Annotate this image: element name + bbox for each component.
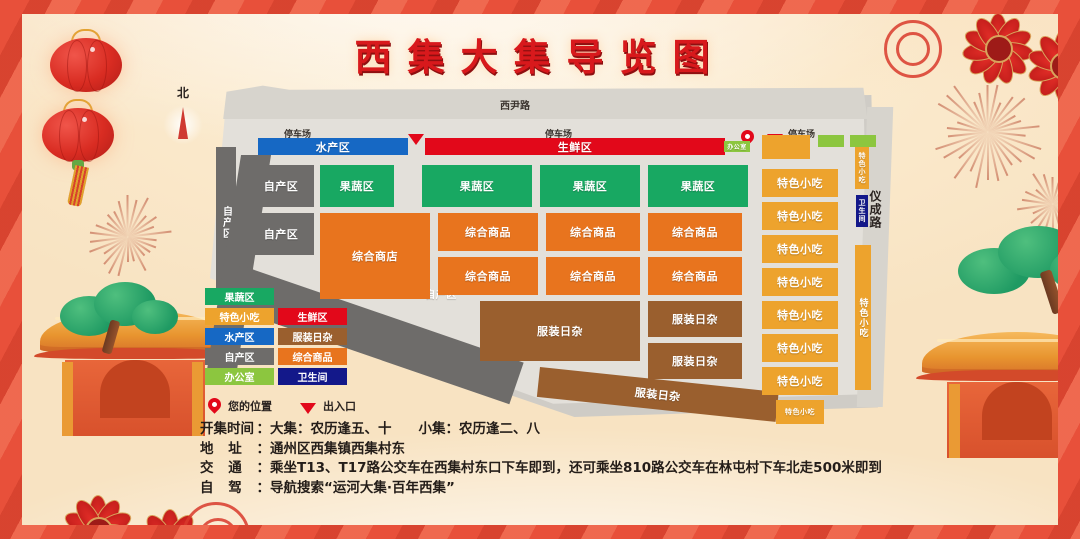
info-key-colon: ： xyxy=(257,440,271,460)
zone-general-goods[interactable]: 综合商品 xyxy=(648,257,742,295)
legend-row: 自产区 综合商品 xyxy=(205,348,347,365)
zone-clothing[interactable]: 服装日杂 xyxy=(648,343,742,379)
zone-snack[interactable]: 特色小吃 xyxy=(762,268,838,296)
legend-item-restroom: 卫生间 xyxy=(278,368,347,385)
zone-snack[interactable]: 特色小吃 xyxy=(762,301,838,329)
compass-north-label: 北 xyxy=(160,84,206,101)
legend-row: 果蔬区 xyxy=(205,288,347,305)
entrance-marker-icon xyxy=(300,403,316,414)
zone-clothing[interactable]: 服装日杂 xyxy=(480,301,640,361)
poster-root: 西集大集导览图 北 西尹路 仪成路 停车场 停车场 停车场 自产区 自产区 水产… xyxy=(0,0,1080,539)
zone-snack[interactable]: 特色小吃 xyxy=(762,202,838,230)
marker-key-location-label: 您的位置 xyxy=(228,398,272,414)
zone-snack-strip-small[interactable]: 特色小吃 xyxy=(855,147,869,189)
zone-general-goods[interactable]: 综合商品 xyxy=(438,257,538,295)
zone-fresh[interactable]: 生鲜区 xyxy=(425,138,725,155)
zone-general-goods[interactable]: 综合商品 xyxy=(438,213,538,251)
legend-row: 水产区 服装日杂 xyxy=(205,328,347,345)
pavilion-icon xyxy=(922,332,1058,458)
zone-snack-plot[interactable] xyxy=(762,135,810,159)
info-key-colon: ： xyxy=(257,420,271,440)
zone-self-produced[interactable]: 自产区 xyxy=(248,165,314,207)
info-value: 导航搜索“运河大集·百年西集” xyxy=(270,479,455,499)
zone-general-goods[interactable]: 综合商品 xyxy=(546,257,640,295)
legend-item-aquatic: 水产区 xyxy=(205,328,274,345)
chrysanthemum-icon xyxy=(52,484,142,525)
legend-row: 特色小吃 生鲜区 xyxy=(205,308,347,325)
legend-item-produce: 果蔬区 xyxy=(205,288,274,305)
zone-aquatic[interactable]: 水产区 xyxy=(258,138,408,155)
zone-produce[interactable]: 果蔬区 xyxy=(320,165,394,207)
zone-restroom[interactable]: 卫生间 xyxy=(856,195,868,227)
zone-snack[interactable]: 特色小吃 xyxy=(762,367,838,395)
legend-item-empty xyxy=(278,288,347,305)
zone-general-goods[interactable]: 综合商品 xyxy=(546,213,640,251)
zone-self-produced[interactable]: 自产区 xyxy=(248,213,314,255)
info-value: 大集：农历逢五、十 小集：农历逢二、八 xyxy=(270,420,540,440)
firework-icon xyxy=(82,192,172,282)
marker-key: 您的位置 出入口 xyxy=(208,398,356,414)
entrance-marker-icon xyxy=(408,134,424,145)
info-row: 交 通 ： 乘坐T13、T17路公交车在西集村东口下车即到，还可乘坐810路公交… xyxy=(200,459,882,479)
zone-produce[interactable]: 果蔬区 xyxy=(648,165,748,207)
info-key-colon: ： xyxy=(257,459,271,479)
legend-item-snack: 特色小吃 xyxy=(205,308,274,325)
road-label-yicheng: 仪成路 xyxy=(867,190,884,229)
info-key: 自 驾 ： xyxy=(200,479,270,499)
zone-general-store[interactable]: 综合商店 xyxy=(320,213,430,299)
zone-office-small[interactable]: 办公室 xyxy=(724,141,750,152)
tree-icon xyxy=(954,222,1058,302)
tree-icon xyxy=(50,280,180,344)
info-row: 自 驾 ： 导航搜索“运河大集·百年西集” xyxy=(200,479,882,499)
info-key-text: 开集时间 xyxy=(200,420,254,440)
your-location-pin-icon xyxy=(205,395,223,413)
zone-office[interactable] xyxy=(850,135,876,147)
info-row: 地 址 ： 通州区西集镇西集村东 xyxy=(200,440,882,460)
info-key-text: 驾 xyxy=(228,479,242,499)
legend-item-clothing: 服装日杂 xyxy=(278,328,347,345)
legend-item-general-goods: 综合商品 xyxy=(278,348,347,365)
zone-produce[interactable]: 果蔬区 xyxy=(540,165,640,207)
info-key: 交 通 ： xyxy=(200,459,270,479)
compass: 北 xyxy=(160,84,206,145)
info-key: 开集时间 ： xyxy=(200,420,270,440)
zone-clothing[interactable]: 服装日杂 xyxy=(648,301,742,337)
info-key-colon: ： xyxy=(257,479,271,499)
info-key-text: 自 xyxy=(200,479,214,499)
zone-office[interactable] xyxy=(818,135,844,147)
info-key-text: 址 xyxy=(228,440,242,460)
road-label-xiyin: 西尹路 xyxy=(500,97,530,112)
zone-snack[interactable]: 特色小吃 xyxy=(762,334,838,362)
marker-key-entrance-label: 出入口 xyxy=(323,398,356,414)
zone-produce[interactable]: 果蔬区 xyxy=(422,165,532,207)
north-arrow-icon xyxy=(160,103,206,145)
legend-item-fresh: 生鲜区 xyxy=(278,308,347,325)
legend-item-self-produced: 自产区 xyxy=(205,348,274,365)
info-key-text: 交 xyxy=(200,459,214,479)
legend-item-office: 办公室 xyxy=(205,368,274,385)
legend-row: 办公室 卫生间 xyxy=(205,368,347,385)
zone-general-goods[interactable]: 综合商品 xyxy=(648,213,742,251)
zone-snack[interactable]: 特色小吃 xyxy=(762,235,838,263)
info-key: 地 址 ： xyxy=(200,440,270,460)
legend: 果蔬区 特色小吃 生鲜区 水产区 服装日杂 自产区 综合商品 办公室 卫生间 xyxy=(205,288,347,388)
info-row: 开集时间 ： 大集：农历逢五、十 小集：农历逢二、八 xyxy=(200,420,882,440)
info-value: 乘坐T13、T17路公交车在西集村东口下车即到，还可乘坐810路公交车在林屯村下… xyxy=(270,459,882,479)
lantern-icon xyxy=(42,108,114,162)
info-value: 通州区西集镇西集村东 xyxy=(270,440,405,460)
zone-snack-strip[interactable]: 特色小吃 xyxy=(855,245,871,390)
zone-snack[interactable]: 特色小吃 xyxy=(762,169,838,197)
info-key-text: 地 xyxy=(200,440,214,460)
road-xiyin xyxy=(210,85,870,119)
info-key-text: 通 xyxy=(228,459,242,479)
info-block: 开集时间 ： 大集：农历逢五、十 小集：农历逢二、八 地 址 ： 通州区西集镇西… xyxy=(200,420,882,498)
page-title: 西集大集导览图 xyxy=(0,27,1080,81)
